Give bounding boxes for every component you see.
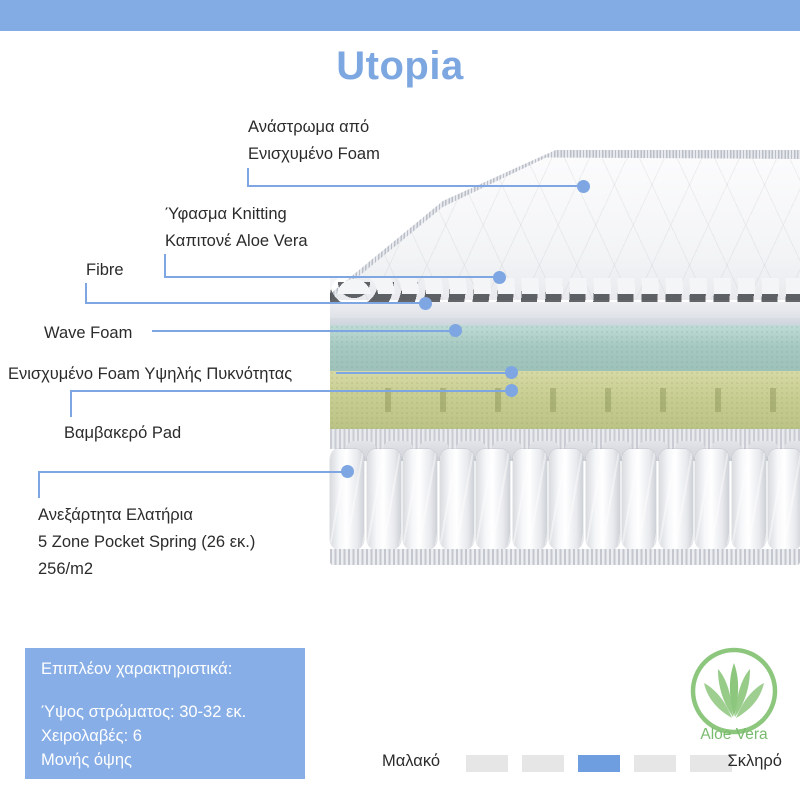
extra-features-height: Ύψος στρώματος: 30-32 εκ. <box>41 700 246 724</box>
pocket-spring <box>732 449 766 549</box>
firmness-soft-label: Μαλακό <box>382 752 440 771</box>
callout-label-knitting-line1: Ύφασμα Knitting <box>165 201 287 227</box>
hd-foam-notch <box>605 388 611 412</box>
high-density-foam-texture <box>330 371 800 429</box>
pocket-spring <box>768 449 800 549</box>
pocket-spring <box>367 449 401 549</box>
callout-label-topper-line2: Ενισχυμένο Foam <box>248 141 380 167</box>
leader-line-cotton-pad-vertical <box>70 392 72 417</box>
callout-label-springs-line2: 5 Zone Pocket Spring (26 εκ.) <box>38 529 255 555</box>
leader-dot-hd-foam <box>505 366 518 379</box>
fibre-layer-shade <box>330 318 800 325</box>
leader-dot-cotton-pad <box>505 384 518 397</box>
firmness-segment-3[interactable] <box>578 755 620 772</box>
leader-line-fibre-vertical <box>85 283 87 304</box>
leader-dot-topper <box>577 180 590 193</box>
firmness-segment-2[interactable] <box>522 755 564 772</box>
leader-line-knitting-vertical <box>164 254 166 278</box>
callout-label-topper-line1: Ανάστρωμα από <box>248 114 369 140</box>
extra-features-box: Επιπλέον χαρακτηριστικά: Ύψος στρώματος:… <box>25 648 305 779</box>
pocket-spring <box>403 449 437 549</box>
page-title: Utopia <box>0 44 800 89</box>
infographic-page: Utopia Ανάστρωμα από Ενισχυμένο Foam Ύφα… <box>0 0 800 800</box>
hd-foam-notch <box>715 388 721 412</box>
leader-line-springs-horizontal <box>38 471 348 473</box>
leader-dot-wave-foam <box>449 324 462 337</box>
leader-line-fibre-horizontal <box>85 302 426 304</box>
pocket-spring-row <box>330 449 800 559</box>
leader-line-knitting-horizontal <box>164 276 500 278</box>
leader-line-hd-foam <box>336 372 512 374</box>
quilt-scallop-face <box>330 278 800 294</box>
leader-dot-fibre <box>419 297 432 310</box>
callout-label-fibre: Fibre <box>86 257 124 283</box>
pocket-spring <box>513 449 547 549</box>
extra-features-title: Επιπλέον χαρακτηριστικά: <box>41 660 232 679</box>
leader-dot-knitting <box>493 271 506 284</box>
pocket-spring <box>586 449 620 549</box>
mattress-base-trim <box>330 549 800 565</box>
leader-line-springs-vertical <box>38 473 40 498</box>
top-accent-bar <box>0 0 800 31</box>
pocket-spring <box>549 449 583 549</box>
extra-features-handles: Χειρολαβές: 6 <box>41 724 142 748</box>
pocket-spring <box>440 449 474 549</box>
mattress-cross-section-illustration <box>330 150 800 570</box>
leader-line-wave-foam <box>152 330 456 332</box>
callout-label-hd-foam: Ενισχυμένο Foam Υψηλής Πυκνότητας <box>8 361 292 387</box>
pocket-spring <box>622 449 656 549</box>
leader-line-topper-horizontal <box>247 185 584 187</box>
pocket-spring <box>476 449 510 549</box>
fibre-layer <box>330 302 800 318</box>
leader-dot-springs <box>341 465 354 478</box>
firmness-segment-1[interactable] <box>466 755 508 772</box>
hd-foam-notch <box>770 388 776 412</box>
callout-label-wave-foam: Wave Foam <box>44 320 132 346</box>
leader-line-cotton-pad-horizontal <box>70 390 512 392</box>
callout-label-springs-line3: 256/m2 <box>38 556 93 582</box>
extra-features-sided: Μονής όψης <box>41 748 132 772</box>
firmness-segment-5[interactable] <box>690 755 732 772</box>
hd-foam-notch <box>660 388 666 412</box>
callout-label-springs-line1: Ανεξάρτητα Ελατήρια <box>38 502 193 528</box>
firmness-segment-4[interactable] <box>634 755 676 772</box>
callout-label-knitting-line2: Καπιτονέ Aloe Vera <box>165 228 308 254</box>
pocket-spring <box>659 449 693 549</box>
aloe-vera-label: Aloe Vera <box>688 726 780 744</box>
callout-label-cotton-pad: Βαμβακερό Pad <box>64 420 181 446</box>
pocket-spring <box>330 449 364 549</box>
pocket-spring <box>695 449 729 549</box>
firmness-hard-label: Σκληρό <box>728 752 782 771</box>
hd-foam-notch <box>550 388 556 412</box>
